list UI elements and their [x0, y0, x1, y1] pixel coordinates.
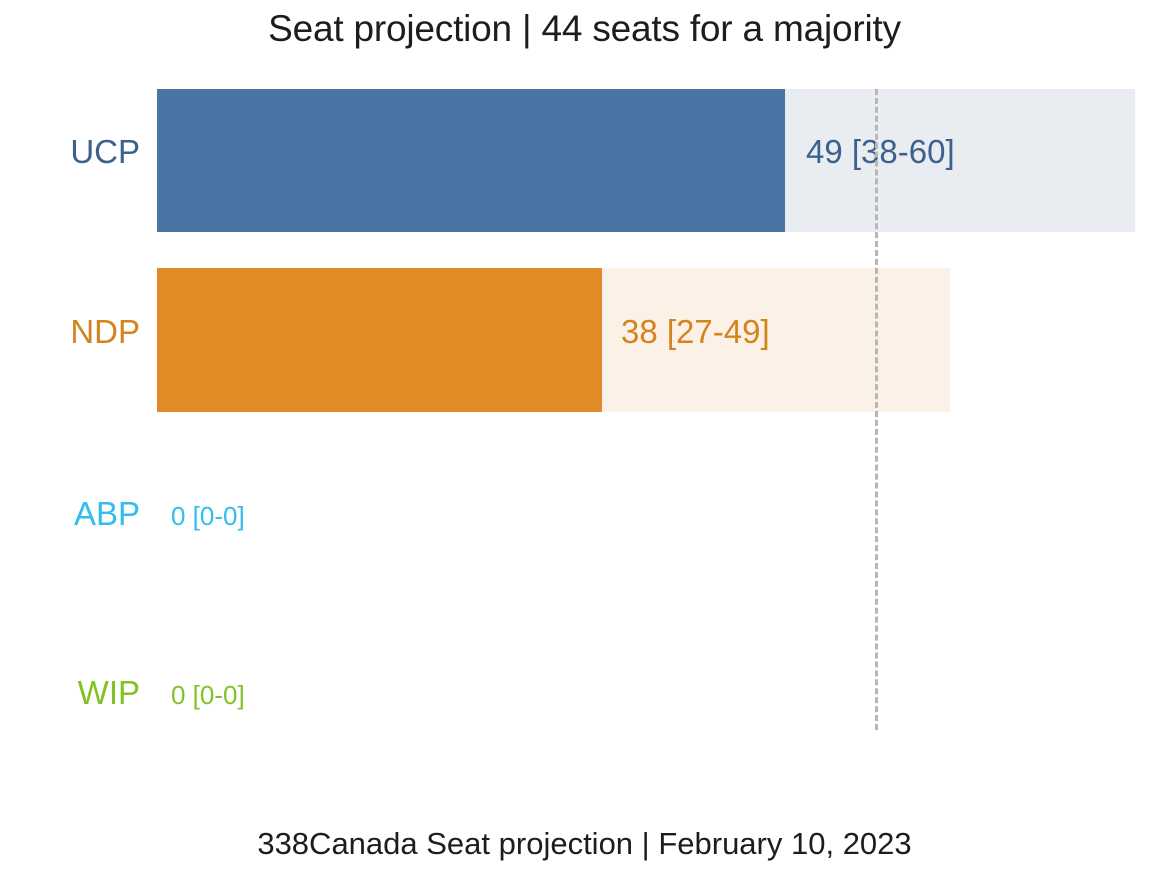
seat-projection-chart: Seat projection | 44 seats for a majorit…: [0, 0, 1169, 888]
value-label-wip: 0 [0-0]: [171, 682, 245, 708]
majority-threshold-line: [875, 89, 878, 730]
bar-row-ndp: NDP 38 [27-49]: [0, 268, 1169, 412]
chart-source-caption: 338Canada Seat projection | February 10,…: [0, 826, 1169, 862]
bar-ucp[interactable]: [157, 89, 785, 232]
bar-row-abp: ABP 0 [0-0]: [0, 447, 1169, 591]
bar-row-ucp: UCP 49 [38-60]: [0, 89, 1169, 232]
axis-label-ucp: UCP: [0, 135, 140, 168]
value-label-ucp: 49 [38-60]: [806, 135, 955, 168]
value-label-abp: 0 [0-0]: [171, 503, 245, 529]
axis-label-ndp: NDP: [0, 315, 140, 348]
axis-label-wip: WIP: [0, 676, 140, 709]
bar-row-wip: WIP 0 [0-0]: [0, 626, 1169, 770]
bar-ndp[interactable]: [157, 268, 602, 412]
axis-label-abp: ABP: [0, 497, 140, 530]
plot-area: UCP 49 [38-60] NDP 38 [27-49] ABP 0 [0-0…: [0, 0, 1169, 800]
value-label-ndp: 38 [27-49]: [621, 315, 770, 348]
